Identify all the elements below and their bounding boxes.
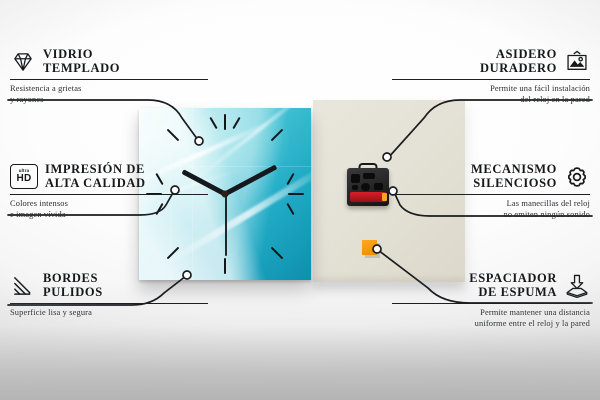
mechanism-body <box>347 168 389 206</box>
feature-divider <box>392 303 590 304</box>
feature-desc-line1: Permite mantener una distancia <box>392 308 590 319</box>
feature-title-line2: SILENCIOSO <box>471 177 557 191</box>
feature-heading: VIDRIO TEMPLADO <box>10 48 208 75</box>
clock-tick <box>167 129 180 142</box>
gear-icon <box>564 164 590 190</box>
feature-divider <box>392 194 590 195</box>
feature-desc-line1: Resistencia a grietas <box>10 84 208 95</box>
feature-desc-line1: Las manecillas del reloj <box>392 199 590 210</box>
feature-bordes-pulidos[interactable]: BORDES PULIDOS Superficie lisa y segura <box>10 272 208 319</box>
foam-spacer-piece <box>362 240 377 255</box>
feature-title-line1: MECANISMO <box>471 163 557 177</box>
feature-title-line2: DE ESPUMA <box>469 286 557 300</box>
feature-title-line2: ALTA CALIDAD <box>45 177 146 191</box>
feature-desc-line2: no emiten ningún sonido <box>392 210 590 221</box>
feature-mecanismo-silencioso[interactable]: MECANISMO SILENCIOSO Las manecillas del … <box>392 163 590 220</box>
feature-heading: ASIDERO DURADERO <box>392 48 590 75</box>
mechanism-battery <box>350 192 386 202</box>
badge-large-text: HD <box>16 174 31 184</box>
feature-heading: MECANISMO SILENCIOSO <box>392 163 590 190</box>
feature-divider <box>10 303 208 304</box>
feature-divider <box>10 79 208 80</box>
clock-tick <box>288 193 304 195</box>
feature-desc-line2: del reloj en la pared <box>392 95 590 106</box>
infographic-canvas: VIDRIO TEMPLADO Resistencia a grietas y … <box>0 0 600 400</box>
feature-desc-line1: Colores intensos <box>10 199 208 210</box>
clock-mechanism <box>347 168 389 206</box>
feature-asidero-duradero[interactable]: ASIDERO DURADERO Permite una fácil insta… <box>392 48 590 105</box>
clock-center-hub <box>222 191 229 198</box>
feature-title-line1: IMPRESIÓN DE <box>45 163 146 177</box>
clock-tick <box>271 247 284 260</box>
feature-title-line1: ESPACIADOR <box>469 272 557 286</box>
clock-tick <box>224 114 226 130</box>
clock-tick <box>271 129 284 142</box>
clock-tick <box>224 258 226 274</box>
feature-heading: ESPACIADOR DE ESPUMA <box>392 272 590 299</box>
feature-heading: BORDES PULIDOS <box>10 272 208 299</box>
feature-title-line2: PULIDOS <box>43 286 103 300</box>
feature-desc-line2: e imagen vívida <box>10 210 208 221</box>
feature-vidrio-templado[interactable]: VIDRIO TEMPLADO Resistencia a grietas y … <box>10 48 208 105</box>
clock-minute-hand <box>224 165 278 197</box>
feature-title-line2: DURADERO <box>480 62 557 76</box>
feature-title-line1: ASIDERO <box>480 48 557 62</box>
feature-divider <box>10 194 208 195</box>
feature-heading: ultra HD IMPRESIÓN DE ALTA CALIDAD <box>10 163 208 190</box>
feature-title-line1: VIDRIO <box>43 48 120 62</box>
feature-desc-line1: Permite una fácil instalación <box>392 84 590 95</box>
feature-title-line2: TEMPLADO <box>43 62 120 76</box>
feature-title-line1: BORDES <box>43 272 103 286</box>
clock-tick <box>232 117 240 129</box>
feature-divider <box>392 79 590 80</box>
ultra-hd-badge-icon: ultra HD <box>10 164 38 189</box>
arrow-down-pad-icon <box>564 273 590 299</box>
feature-impresion-alta-calidad[interactable]: ultra HD IMPRESIÓN DE ALTA CALIDAD Color… <box>10 163 208 220</box>
diagonal-lines-icon <box>10 273 36 299</box>
hanging-frame-icon <box>564 49 590 75</box>
feature-espaciador-de-espuma[interactable]: ESPACIADOR DE ESPUMA Permite mantener un… <box>392 272 590 329</box>
clock-tick <box>286 203 294 215</box>
feature-desc-line1: Superficie lisa y segura <box>10 308 208 319</box>
clock-second-hand <box>225 194 227 256</box>
feature-desc-line2: uniforme entre el reloj y la pared <box>392 319 590 330</box>
feature-desc-line2: y rayones <box>10 95 208 106</box>
diamond-icon <box>10 49 36 75</box>
clock-tick <box>209 117 217 129</box>
